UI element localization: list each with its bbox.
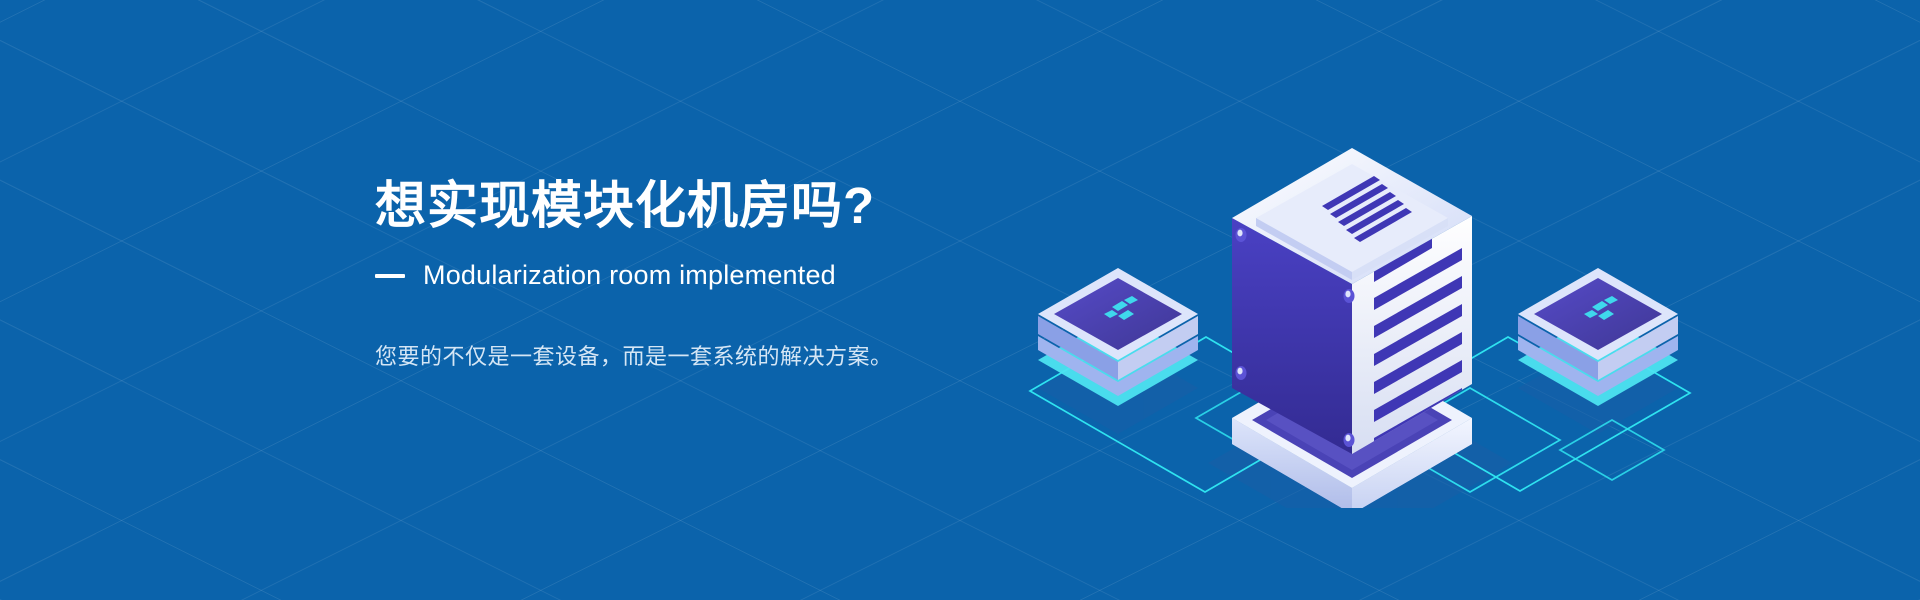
page-title: 想实现模块化机房吗?: [375, 176, 1015, 235]
subheading-row: Modularization room implemented: [375, 260, 1015, 291]
hero-copy-block: 想实现模块化机房吗? Modularization room implement…: [375, 176, 1015, 371]
isometric-server-illustration: [1000, 88, 1720, 508]
dash-accent-icon: [375, 274, 405, 278]
hero-banner: 想实现模块化机房吗? Modularization room implement…: [0, 0, 1920, 600]
page-subtitle: Modularization room implemented: [423, 260, 836, 291]
page-description: 您要的不仅是一套设备，而是一套系统的解决方案。: [375, 339, 1015, 371]
